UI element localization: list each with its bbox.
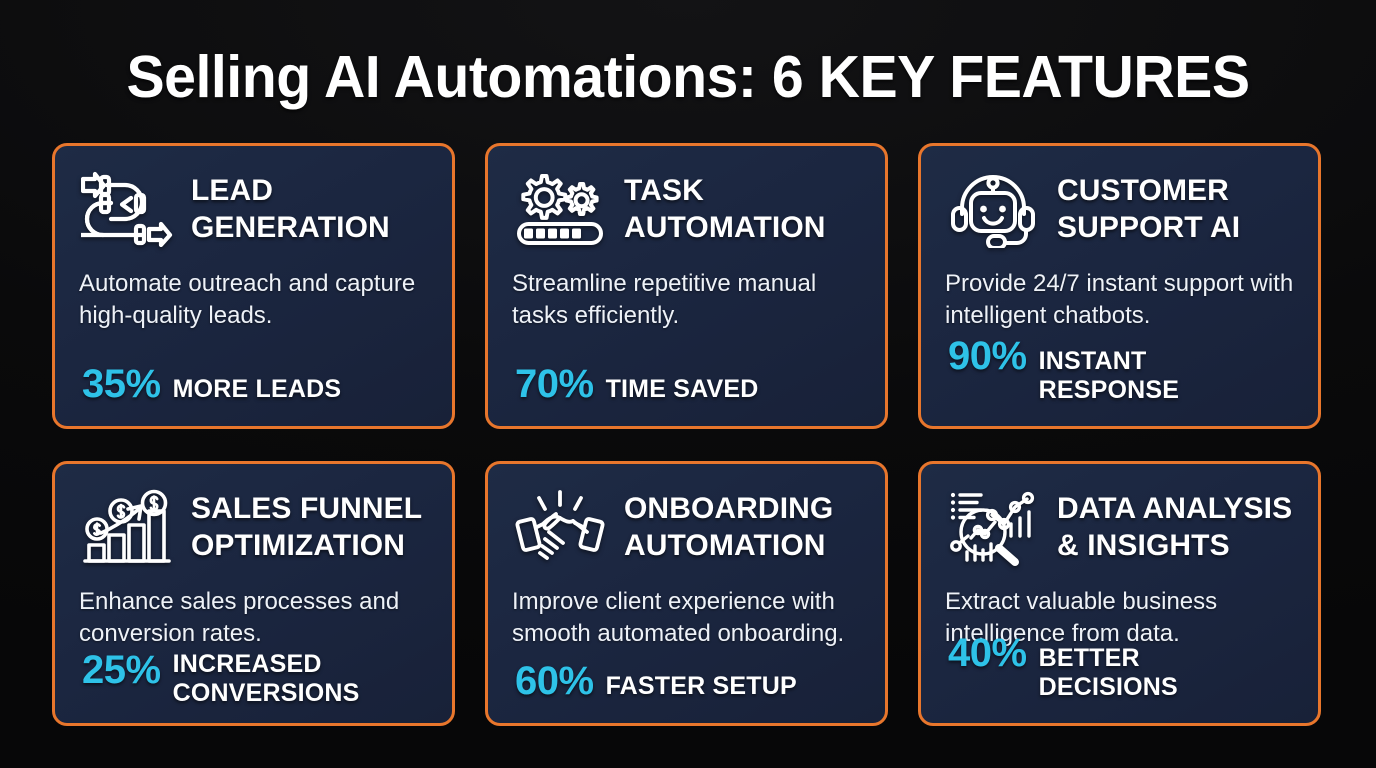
feature-card-onboarding-automation[interactable]: ONBOARDING AUTOMATION Improve client exp… — [485, 461, 888, 726]
card-title: TASK AUTOMATION — [624, 172, 861, 246]
feature-card-customer-support-ai[interactable]: CUSTOMER SUPPORT AI Provide 24/7 instant… — [918, 143, 1321, 429]
stat-value: 35% — [82, 364, 161, 404]
card-stat: 35% MORE LEADS — [82, 364, 341, 404]
stat-value: 90% — [948, 336, 1027, 376]
magnifier-analytics-icon — [945, 487, 1041, 567]
feature-card-grid: LEAD GENERATION Automate outreach and ca… — [52, 143, 1324, 726]
stat-label: INCREASED CONVERSIONS — [173, 650, 403, 707]
card-title: LEAD GENERATION — [191, 172, 428, 246]
stat-value: 25% — [82, 650, 161, 690]
feature-card-lead-generation[interactable]: LEAD GENERATION Automate outreach and ca… — [52, 143, 455, 429]
card-title: CUSTOMER SUPPORT AI — [1057, 172, 1294, 246]
card-description: Streamline repetitive manual tasks effic… — [512, 268, 861, 331]
card-title: ONBOARDING AUTOMATION — [624, 490, 861, 564]
card-description: Provide 24/7 instant support with intell… — [945, 268, 1294, 331]
feature-card-sales-funnel-optimization[interactable]: SALES FUNNEL OPTIMIZATION Enhance sales … — [52, 461, 455, 726]
stat-label: TIME SAVED — [606, 375, 759, 404]
gears-progress-icon — [512, 169, 608, 249]
card-description: Enhance sales processes and conversion r… — [79, 586, 428, 649]
stat-value: 70% — [515, 364, 594, 404]
infographic-poster: Selling AI Automations: 6 KEY FEATURES — [0, 0, 1376, 768]
card-stat: 25% INCREASED CONVERSIONS — [82, 650, 403, 707]
card-header: LEAD GENERATION — [79, 166, 428, 252]
workflow-arrows-icon — [79, 169, 175, 249]
stat-label: FASTER SETUP — [606, 672, 797, 701]
card-header: CUSTOMER SUPPORT AI — [945, 166, 1294, 252]
card-title: DATA ANALYSIS & INSIGHTS — [1057, 490, 1294, 564]
card-header: TASK AUTOMATION — [512, 166, 861, 252]
card-header: SALES FUNNEL OPTIMIZATION — [79, 484, 428, 570]
handshake-icon — [512, 487, 608, 567]
card-description: Automate outreach and capture high-quali… — [79, 268, 428, 331]
card-header: ONBOARDING AUTOMATION — [512, 484, 861, 570]
stat-value: 40% — [948, 633, 1027, 673]
card-stat: 60% FASTER SETUP — [515, 661, 797, 701]
card-stat: 70% TIME SAVED — [515, 364, 759, 404]
card-header: DATA ANALYSIS & INSIGHTS — [945, 484, 1294, 570]
feature-card-data-analysis-insights[interactable]: DATA ANALYSIS & INSIGHTS Extract valuabl… — [918, 461, 1321, 726]
card-description: Improve client experience with smooth au… — [512, 586, 861, 649]
robot-headset-icon — [945, 169, 1041, 249]
card-title: SALES FUNNEL OPTIMIZATION — [191, 490, 428, 564]
stat-label: BETTER DECISIONS — [1039, 644, 1269, 701]
card-stat: 90% INSTANT RESPONSE — [948, 336, 1269, 404]
stat-value: 60% — [515, 661, 594, 701]
feature-card-task-automation[interactable]: TASK AUTOMATION Streamline repetitive ma… — [485, 143, 888, 429]
stat-label: MORE LEADS — [173, 375, 342, 404]
growth-chart-coins-icon — [79, 487, 175, 567]
stat-label: INSTANT RESPONSE — [1039, 347, 1269, 404]
card-stat: 40% BETTER DECISIONS — [948, 633, 1269, 701]
page-title: Selling AI Automations: 6 KEY FEATURES — [21, 0, 1356, 107]
